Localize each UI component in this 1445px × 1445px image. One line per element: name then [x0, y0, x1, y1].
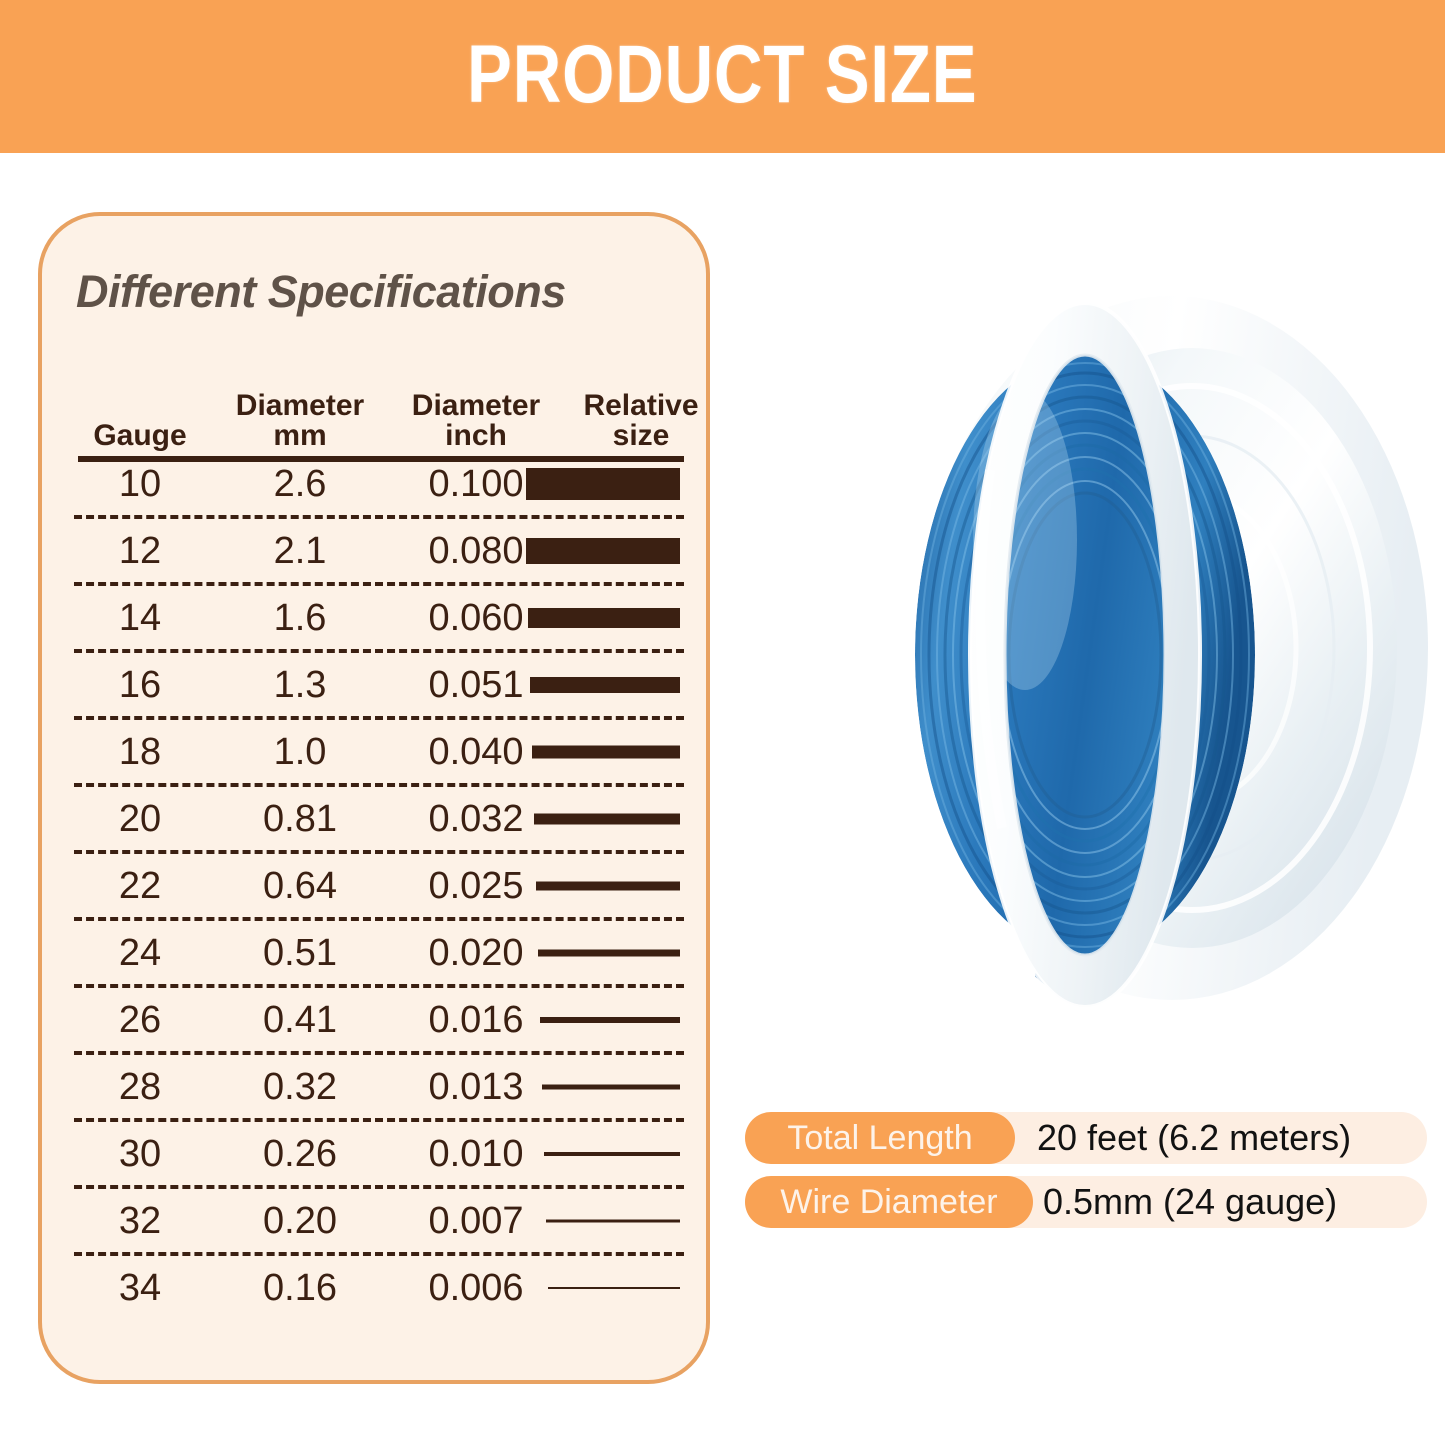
table-row: 200.810.032	[74, 787, 684, 854]
cell-diameter-mm: 0.51	[210, 934, 390, 972]
cell-diameter-mm: 1.3	[210, 666, 390, 704]
cell-relative-size-bar	[536, 881, 680, 890]
cell-relative-size-bar	[530, 677, 680, 693]
table-row: 220.640.025	[74, 854, 684, 921]
spec-row: Total Length20 feet (6.2 meters)	[745, 1112, 1427, 1164]
product-photo-wire-spool	[820, 240, 1440, 1060]
table-row: 320.200.007	[74, 1189, 684, 1256]
cell-relative-size-bar	[544, 1152, 680, 1156]
cell-relative-size-bar	[538, 949, 680, 956]
cell-gauge: 22	[76, 867, 204, 905]
cell-diameter-mm: 2.1	[210, 532, 390, 570]
spec-value: 20 feet (6.2 meters)	[1037, 1112, 1351, 1164]
cell-gauge: 12	[76, 532, 204, 570]
cell-diameter-inch: 0.016	[386, 1001, 566, 1039]
table-row: 181.00.040	[74, 720, 684, 787]
column-header-relative-size: Relative size	[566, 391, 716, 452]
table-row: 161.30.051	[74, 653, 684, 720]
cell-relative-size-bar	[526, 468, 680, 500]
gauge-specification-table: Gauge Diameter mm Diameter inch Relative…	[74, 374, 684, 1319]
table-row: 141.60.060	[74, 586, 684, 653]
cell-relative-size-bar	[548, 1287, 680, 1289]
card-title: Different Specifications	[76, 266, 686, 318]
cell-relative-size-bar	[532, 745, 680, 758]
cell-diameter-inch: 0.013	[386, 1068, 566, 1106]
page-title: PRODUCT SIZE	[467, 34, 977, 116]
header-banner: PRODUCT SIZE	[0, 0, 1445, 153]
cell-relative-size-bar	[526, 538, 680, 564]
table-row: 300.260.010	[74, 1122, 684, 1189]
cell-gauge: 34	[76, 1269, 204, 1307]
cell-gauge: 18	[76, 733, 204, 771]
cell-gauge: 30	[76, 1135, 204, 1173]
cell-diameter-mm: 0.20	[210, 1202, 390, 1240]
cell-relative-size-bar	[534, 813, 680, 824]
cell-gauge: 16	[76, 666, 204, 704]
cell-diameter-mm: 1.0	[210, 733, 390, 771]
cell-diameter-mm: 1.6	[210, 599, 390, 637]
cell-diameter-inch: 0.007	[386, 1202, 566, 1240]
cell-diameter-mm: 0.81	[210, 800, 390, 838]
cell-diameter-mm: 0.64	[210, 867, 390, 905]
table-row: 240.510.020	[74, 921, 684, 988]
cell-gauge: 10	[76, 465, 204, 503]
cell-relative-size-bar	[540, 1017, 680, 1023]
spec-row: Wire Diameter0.5mm (24 gauge)	[745, 1176, 1427, 1228]
spec-label-pill: Wire Diameter	[745, 1176, 1033, 1228]
cell-relative-size-bar	[528, 608, 680, 628]
cell-relative-size-bar	[546, 1219, 680, 1222]
cell-diameter-mm: 0.26	[210, 1135, 390, 1173]
table-row: 280.320.013	[74, 1055, 684, 1122]
column-header-diameter-mm: Diameter mm	[210, 391, 390, 452]
cell-relative-size-bar	[542, 1084, 680, 1089]
table-body: 102.60.100122.10.080141.60.060161.30.051…	[74, 452, 684, 1319]
column-header-gauge: Gauge	[76, 421, 204, 452]
table-row: 340.160.006	[74, 1256, 684, 1319]
cell-gauge: 32	[76, 1202, 204, 1240]
cell-diameter-mm: 0.16	[210, 1269, 390, 1307]
table-row: 122.10.080	[74, 519, 684, 586]
cell-gauge: 14	[76, 599, 204, 637]
cell-diameter-inch: 0.006	[386, 1269, 566, 1307]
table-row: 102.60.100	[74, 452, 684, 519]
cell-diameter-mm: 2.6	[210, 465, 390, 503]
product-spec-list: Total Length20 feet (6.2 meters)Wire Dia…	[745, 1112, 1427, 1240]
table-header-row: Gauge Diameter mm Diameter inch Relative…	[74, 374, 684, 452]
cell-gauge: 20	[76, 800, 204, 838]
table-row: 260.410.016	[74, 988, 684, 1055]
cell-diameter-mm: 0.32	[210, 1068, 390, 1106]
spec-value: 0.5mm (24 gauge)	[1043, 1176, 1337, 1228]
cell-gauge: 26	[76, 1001, 204, 1039]
spec-label-pill: Total Length	[745, 1112, 1015, 1164]
cell-gauge: 28	[76, 1068, 204, 1106]
cell-diameter-inch: 0.010	[386, 1135, 566, 1173]
specifications-card: Different Specifications Gauge Diameter …	[38, 212, 710, 1384]
column-header-diameter-inch: Diameter inch	[386, 391, 566, 452]
cell-diameter-mm: 0.41	[210, 1001, 390, 1039]
cell-gauge: 24	[76, 934, 204, 972]
